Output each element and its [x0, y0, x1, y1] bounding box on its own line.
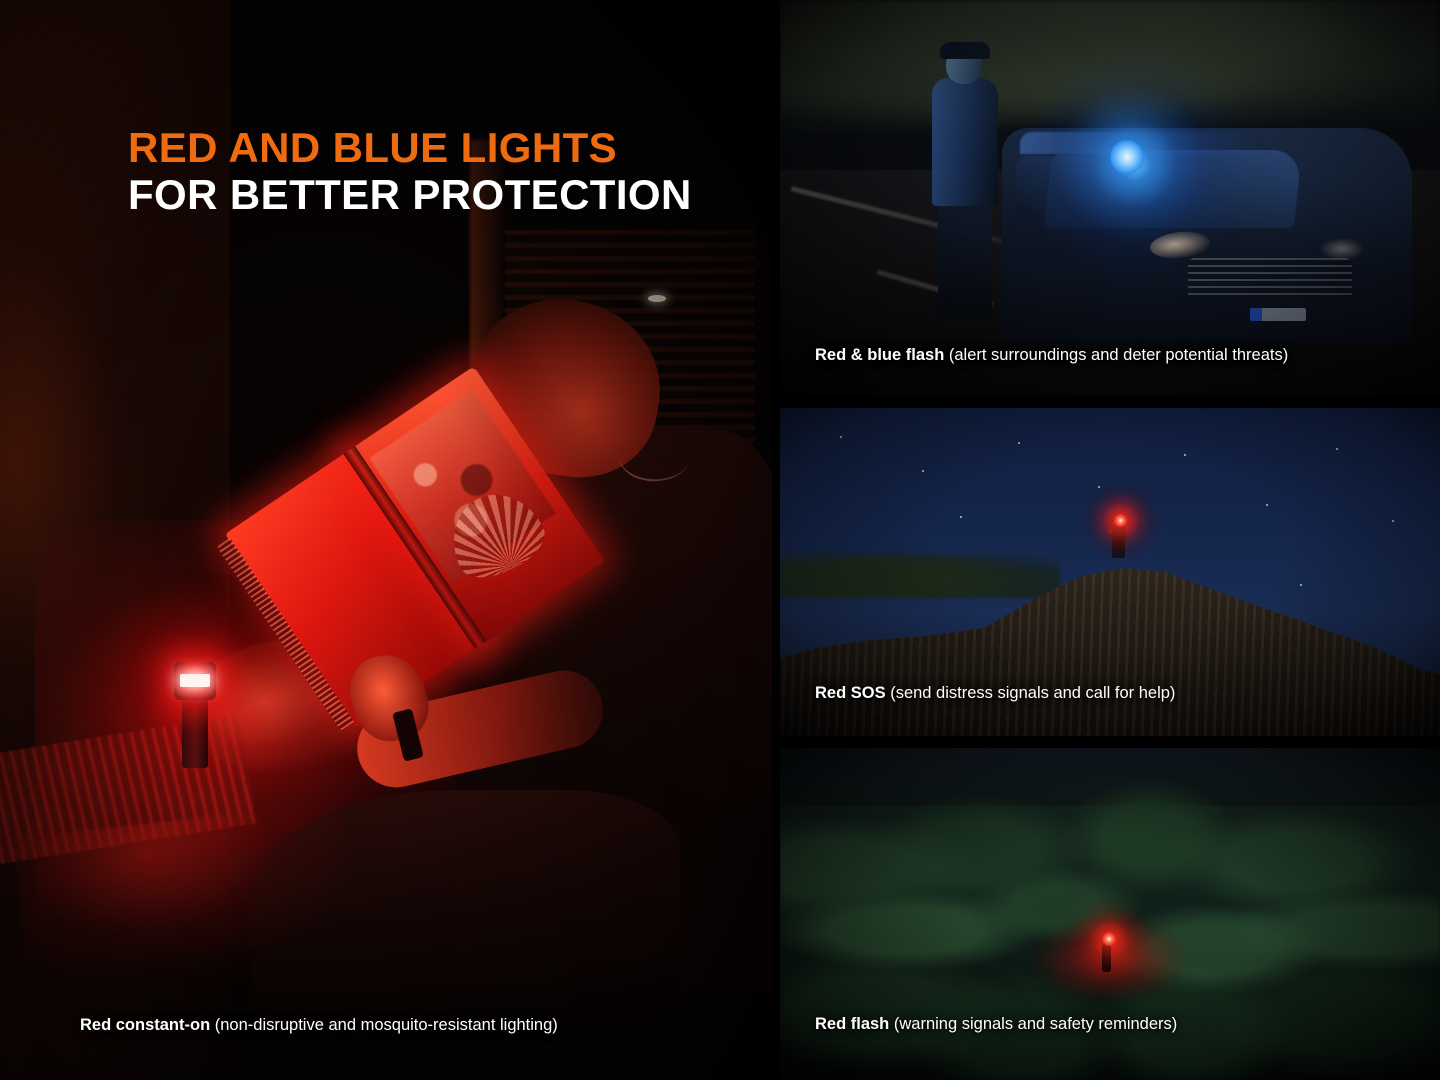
- headline-line-secondary: FOR BETTER PROTECTION: [128, 171, 692, 218]
- caption-red-flash: Red flash (warning signals and safety re…: [815, 1015, 1177, 1034]
- caption-red-sos: Red SOS (send distress signals and call …: [815, 684, 1175, 703]
- p1-vignette: [780, 0, 1440, 396]
- poster-root: RED AND BLUE LIGHTS FOR BETTER PROTECTIO…: [0, 0, 1440, 1080]
- caption-title: Red flash: [815, 1015, 889, 1033]
- caption-title: Red SOS: [815, 684, 886, 702]
- caption-description: (alert surroundings and deter potential …: [949, 346, 1288, 364]
- headline-line-accent: RED AND BLUE LIGHTS: [128, 124, 692, 171]
- caption-description: (warning signals and safety reminders): [894, 1015, 1177, 1033]
- page-title: RED AND BLUE LIGHTS FOR BETTER PROTECTIO…: [128, 124, 692, 219]
- caption-red-blue-flash: Red & blue flash (alert surroundings and…: [815, 346, 1288, 365]
- caption-title: Red & blue flash: [815, 346, 944, 364]
- caption-title: Red constant-on: [80, 1016, 210, 1034]
- caption-description: (send distress signals and call for help…: [890, 684, 1175, 702]
- image-red-blue-flash: [780, 0, 1440, 396]
- caption-description: (non-disruptive and mosquito-resistant l…: [215, 1016, 558, 1034]
- caption-red-constant-on: Red constant-on (non-disruptive and mosq…: [80, 1016, 558, 1035]
